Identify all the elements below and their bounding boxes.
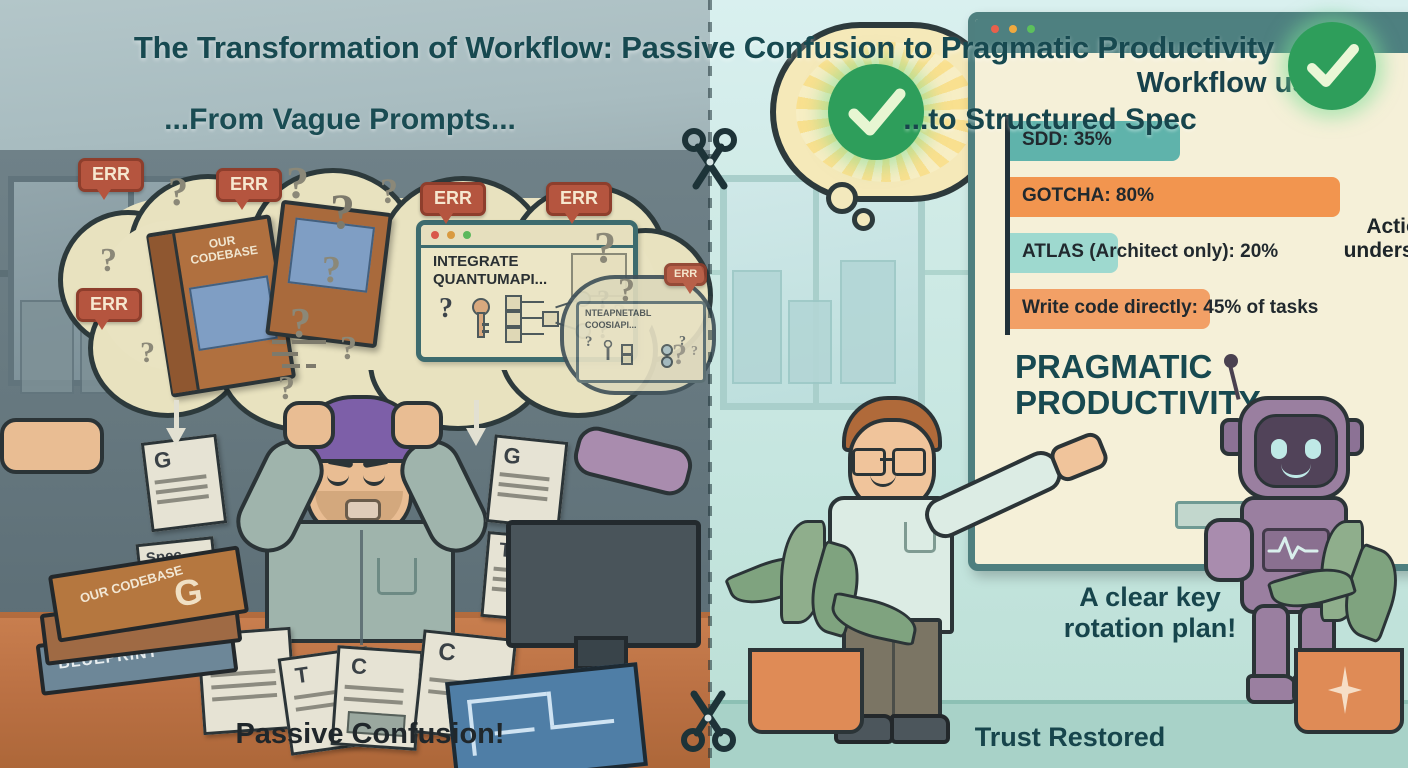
vague-prompt-text-line-2: QUANTUMAPI... [433,271,547,288]
subtitle-right: ...to Structured Spec [770,103,1330,137]
document-glyph: C [437,638,457,668]
question-mark-9: ? [140,336,155,370]
left-character-eye-left [327,473,349,486]
vague-prompt-text-line-1: INTEGRATE [433,253,519,270]
caption-passive-confusion: Passive Confusion! [150,718,590,751]
book-blueprint-diagram [189,275,278,351]
thought-bubble-dot-small [852,208,875,231]
down-arrow-2 [466,428,486,446]
scissors-icon-top [680,128,740,190]
question-mark-3: ? [286,156,309,209]
robot-eye-left [1271,439,1287,459]
document-glyph: G [502,442,522,470]
left-pointing-hand [0,418,104,474]
question-mark-5: ? [380,170,398,212]
question-mark-8: ? [340,330,357,368]
document-glyph: T [293,662,310,690]
err-badge-5: ERR [664,263,707,286]
document-glyph: C [350,653,368,680]
infographic-canvas: Workflow usage SDD: 35% GOTCHA: 80% ATLA… [0,0,1408,768]
glasses-icon [852,448,926,472]
err-badge-2: ERR [216,168,282,202]
err-badge-1: ERR [78,158,144,192]
plant-pot-left [748,648,864,734]
err-badge-6: ERR [76,288,142,322]
document-glyph: G [153,446,173,474]
document-g-2: G [486,434,569,529]
left-character-hand-left [283,401,335,449]
question-mark-1: ? [168,168,188,215]
question-mark-2: ? [100,242,117,280]
down-arrow-stem-1 [174,400,179,430]
desk-book-glyph-g: G [171,570,205,616]
thought-bubble-dot-large [826,182,858,214]
right-building-3 [840,260,896,384]
question-mark-10: ? [594,222,616,273]
desk-book-label-our-codebase: OUR CODEBASE [78,562,184,606]
question-mark-13: ? [672,338,687,372]
question-mark-4: ? [330,182,355,240]
down-arrow-stem-2 [474,400,479,430]
question-mark-6: ? [322,248,341,292]
frustrated-developer-character [243,395,473,625]
robot-foot-left [1246,674,1298,704]
key-icon [469,297,493,337]
err-badge-4: ERR [546,182,612,216]
bar-label-gotcha: GOTCHA: 80% [1022,185,1154,207]
left-shirt-pocket [377,558,417,595]
bar-label-write-code: Write code directly: 45% of tasks [1022,297,1318,319]
robot-smile [1281,463,1311,478]
page-title: The Transformation of Workflow: Passive … [0,30,1408,66]
scissors-icon-bottom [678,690,738,752]
question-mark-11: ? [618,272,635,310]
left-character-hand-right [391,401,443,449]
subtitle-left: ...From Vague Prompts... [60,103,620,137]
bar-label-atlas: ATLAS (Architect only): 20% [1022,241,1278,263]
down-arrow-1 [166,428,186,446]
cut-line-divider [708,0,712,768]
robot-eye-right [1305,439,1321,459]
left-character-eye-right [363,473,385,486]
robot-head [1238,396,1350,500]
document-g-1: G [141,434,227,533]
book-title-our-codebase: OUR CODEBASE [180,230,267,269]
err-badge-3: ERR [420,182,486,216]
secondary-confusion-cloud: NTEAPNETABL COOSIAPI... ? ? ? ERR [560,275,716,395]
right-building-2 [788,300,832,384]
caption-trust-restored: Trust Restored [860,722,1280,753]
robot-face [1254,414,1338,488]
robot-thumbs-up-hand [1204,518,1254,582]
secondary-prompt-line-2: COOSIAPI... [585,320,637,330]
desktop-monitor [506,520,701,648]
annotation-actionable-understanding: Actionable understanding! [1325,215,1408,263]
right-building-1 [732,270,782,384]
robot-antenna-ball [1224,354,1238,368]
